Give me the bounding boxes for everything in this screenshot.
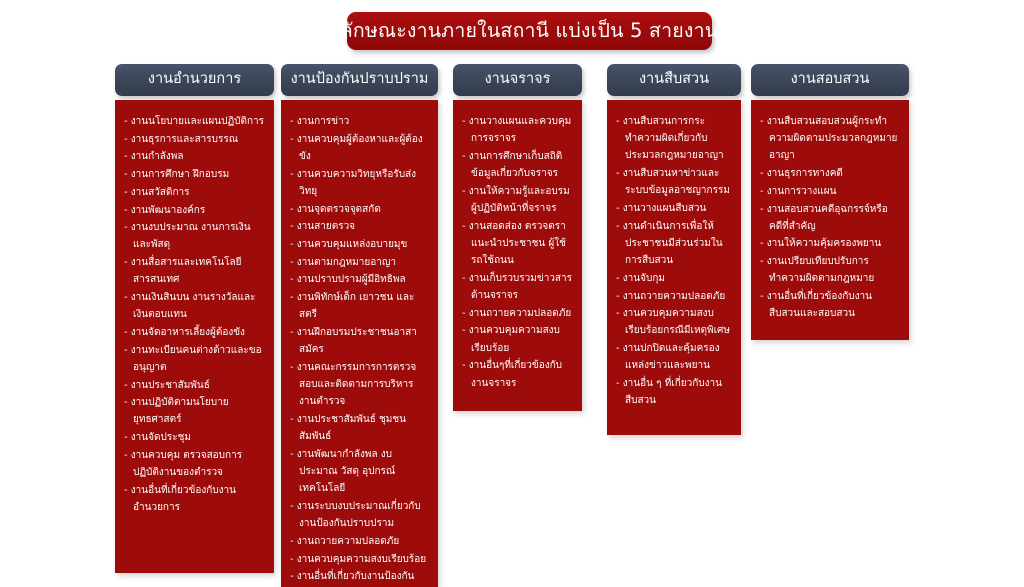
list-item: - งานปราบปรามผู้มีอิทธิพล xyxy=(290,271,429,288)
list-item: - งานอื่นที่เกี่ยวกับงานป้องกันปราบปราม xyxy=(290,568,429,587)
column-header-1: งานอำนวยการ xyxy=(115,64,274,96)
column-ngan-amnuaykan: งานอำนวยการ - งานนโยบายและแผนปฏิบัติการ … xyxy=(115,64,274,573)
list-item: - งานควบคุมผู้ต้องหาและผู้ต้องขัง xyxy=(290,131,429,165)
columns-container: งานอำนวยการ - งานนโยบายและแผนปฏิบัติการ … xyxy=(0,0,1024,575)
column-header-3: งานจราจร xyxy=(453,64,582,96)
list-item: - งานกำลังพล xyxy=(124,148,265,165)
column-item-list-4: - งานสืบสวนการกระทำความผิดเกี่ยวกับประมว… xyxy=(616,113,732,409)
list-item: - งานให้ความรู้และอบรมผู้ปฏิบัติหน้าที่จ… xyxy=(462,183,573,217)
list-item: - งานสืบสวนหาข่าวและระบบข้อมูลอาชญากรรม xyxy=(616,165,732,199)
column-ngan-sopsuan: งานสอบสวน - งานสืบสวนสอบสวนผู้กระทำความผ… xyxy=(751,64,909,340)
list-item: - งานสื่อสารและเทคโนโลยีสารสนเทศ xyxy=(124,254,265,288)
list-item: - งานอื่นที่เกี่ยวข้องกับงานอำนวยการ xyxy=(124,482,265,516)
column-body-1: - งานนโยบายและแผนปฏิบัติการ - งานธุรการแ… xyxy=(115,100,274,573)
column-ngan-suepsuan: งานสืบสวน - งานสืบสวนการกระทำความผิดเกี่… xyxy=(607,64,741,435)
list-item: - งานการวางแผน xyxy=(760,183,900,200)
column-body-4: - งานสืบสวนการกระทำความผิดเกี่ยวกับประมว… xyxy=(607,100,741,435)
list-item: - งานพัฒนาองค์กร xyxy=(124,202,265,219)
list-item: - งานการข่าว xyxy=(290,113,429,130)
list-item: - งานควบคุมความสงบเรียบร้อย xyxy=(462,322,573,356)
list-item: - งานสอบสวนคดีอุฉกรรจ์หรือคดีที่สำคัญ xyxy=(760,201,900,235)
list-item: - งานวางแผนและควบคุมการจราจร xyxy=(462,113,573,147)
column-item-list-5: - งานสืบสวนสอบสวนผู้กระทำความผิดตามประมว… xyxy=(760,113,900,322)
list-item: - งานธุรการและสารบรรณ xyxy=(124,131,265,148)
column-header-4: งานสืบสวน xyxy=(607,64,741,96)
list-item: - งานสอดส่อง ตรวจตรา แนะนำประชาชน ผู้ใช้… xyxy=(462,218,573,270)
column-header-label: งานอำนวยการ xyxy=(148,72,241,88)
column-body-5: - งานสืบสวนสอบสวนผู้กระทำความผิดตามประมว… xyxy=(751,100,909,340)
column-ngan-charachon: งานจราจร - งานวางแผนและควบคุมการจราจร - … xyxy=(453,64,582,411)
list-item: - งานสวัสดิการ xyxy=(124,184,265,201)
list-item: - งานจัดประชุม xyxy=(124,429,265,446)
list-item: - งานการศึกษา ฝึกอบรม xyxy=(124,166,265,183)
list-item: - งานถวายความปลอดภัย xyxy=(290,533,429,550)
list-item: - งานควบคุมความสงบเรียบร้อยกรณีมีเหตุพิเ… xyxy=(616,305,732,339)
list-item: - งานอื่นที่เกี่ยวข้องกับงานสืบสวนและสอบ… xyxy=(760,288,900,322)
list-item: - งานควบความวิทยุหรือรับส่งวิทยุ xyxy=(290,166,429,200)
list-item: - งานงบประมาณ งานการเงินและพัสดุ xyxy=(124,219,265,253)
list-item: - งานฝึกอบรมประชาชนอาสาสมัคร xyxy=(290,324,429,358)
list-item: - งานจัดอาหารเลี้ยงผู้ต้องขัง xyxy=(124,324,265,341)
list-item: - งานการศึกษาเก็บสถิติข้อมูลเกี่ยวกับจรา… xyxy=(462,148,573,182)
list-item: - งานเงินสินบน งานรางวัลและเงินตอบแทน xyxy=(124,289,265,323)
list-item: - งานอื่นๆที่เกี่ยวข้องกับงานจราจร xyxy=(462,357,573,391)
list-item: - งานพัฒนากำลังพล งบประมาณ วัสดุ อุปกรณ์… xyxy=(290,446,429,498)
list-item: - งานธุรการทางคดี xyxy=(760,165,900,182)
list-item: - งานถวายความปลอดภัย xyxy=(616,288,732,305)
list-item: - งานทะเบียนคนต่างด้าวและขออนุญาต xyxy=(124,342,265,376)
list-item: - งานให้ความคุ้มครองพยาน xyxy=(760,235,900,252)
column-ngan-pongkan-prapparam: งานป้องกันปราบปราม - งานการข่าว - งานควบ… xyxy=(281,64,438,587)
column-header-label: งานจราจร xyxy=(485,72,551,88)
list-item: - งานอื่น ๆ ที่เกี่ยวกับงานสืบสวน xyxy=(616,375,732,409)
list-item: - งานเก็บรวบรวมข่าวสารด้านจราจร xyxy=(462,270,573,304)
list-item: - งานควบคุมแหล่งอบายมุข xyxy=(290,236,429,253)
list-item: - งานจับกุม xyxy=(616,270,732,287)
list-item: - งานควบคุมความสงบเรียบร้อย xyxy=(290,551,429,568)
column-header-label: งานป้องกันปราบปราม xyxy=(291,72,429,88)
list-item: - งานวางแผนสืบสวน xyxy=(616,200,732,217)
column-header-label: งานสืบสวน xyxy=(639,72,709,88)
list-item: - งานสายตรวจ xyxy=(290,218,429,235)
list-item: - งานสืบสวนการกระทำความผิดเกี่ยวกับประมว… xyxy=(616,113,732,165)
list-item: - งานสืบสวนสอบสวนผู้กระทำความผิดตามประมว… xyxy=(760,113,900,165)
column-header-5: งานสอบสวน xyxy=(751,64,909,96)
list-item: - งานปฏิบัติตามนโยบายยุทธศาสตร์ xyxy=(124,394,265,428)
column-body-3: - งานวางแผนและควบคุมการจราจร - งานการศึก… xyxy=(453,100,582,411)
list-item: - งานดำเนินการเพื่อให้ประชาชนมีส่วนร่วมใ… xyxy=(616,218,732,270)
column-body-2: - งานการข่าว - งานควบคุมผู้ต้องหาและผู้ต… xyxy=(281,100,438,587)
list-item: - งานควบคุม ตรวจสอบการปฏิบัติงานของตำรวจ xyxy=(124,447,265,481)
column-item-list-3: - งานวางแผนและควบคุมการจราจร - งานการศึก… xyxy=(462,113,573,392)
list-item: - งานปกปิดและคุ้มครองแหล่งข่าวและพยาน xyxy=(616,340,732,374)
list-item: - งานตามกฎหมายอาญา xyxy=(290,254,429,271)
list-item: - งานเปรียบเทียบปรับการทำความผิดตามกฎหมา… xyxy=(760,253,900,287)
column-item-list-2: - งานการข่าว - งานควบคุมผู้ต้องหาและผู้ต… xyxy=(290,113,429,587)
list-item: - งานนโยบายและแผนปฏิบัติการ xyxy=(124,113,265,130)
list-item: - งานระบบงบประมาณเกี่ยวกับงานป้องกันปราบ… xyxy=(290,498,429,532)
list-item: - งานจุดตรวจจุดสกัด xyxy=(290,201,429,218)
list-item: - งานประชาสัมพันธ์ ชุมชนสัมพันธ์ xyxy=(290,411,429,445)
column-header-label: งานสอบสวน xyxy=(791,72,870,88)
column-header-2: งานป้องกันปราบปราม xyxy=(281,64,438,96)
column-item-list-1: - งานนโยบายและแผนปฏิบัติการ - งานธุรการแ… xyxy=(124,113,265,516)
list-item: - งานถวายความปลอดภัย xyxy=(462,305,573,322)
list-item: - งานประชาสัมพันธ์ xyxy=(124,377,265,394)
list-item: - งานคณะกรรมการการตรวจสอบและติดตามการบริ… xyxy=(290,359,429,411)
list-item: - งานพิทักษ์เด็ก เยาวชน และสตรี xyxy=(290,289,429,323)
